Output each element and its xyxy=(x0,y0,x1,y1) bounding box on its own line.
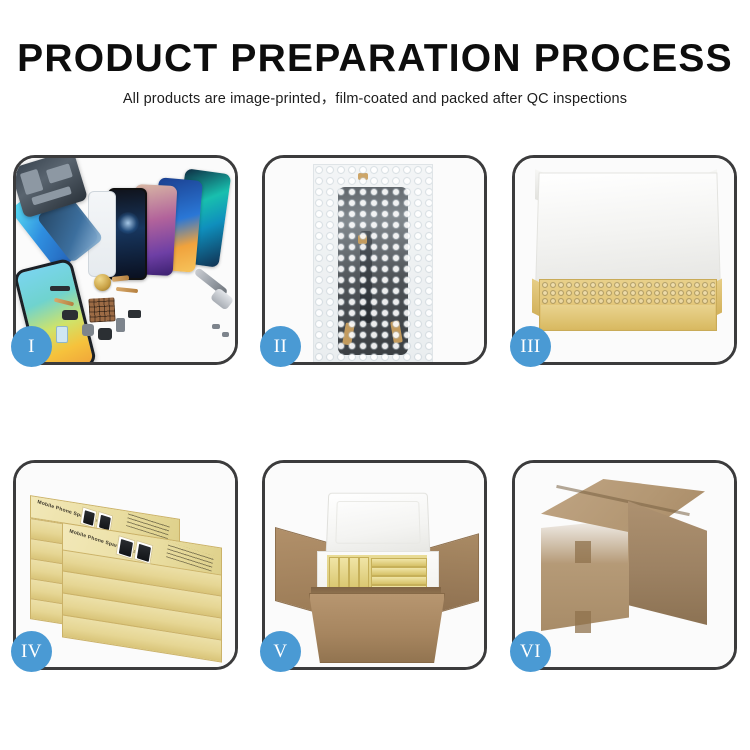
box-front-face xyxy=(541,305,715,329)
step-badge-6: VI xyxy=(510,631,551,672)
battery-label-part xyxy=(56,326,68,343)
antenna-strip-part xyxy=(50,286,70,291)
box-base-kraft xyxy=(539,279,717,331)
step-badge-5: V xyxy=(260,631,301,672)
page-subtitle: All products are image-printed，film-coat… xyxy=(0,89,750,109)
step-badge-4: IV xyxy=(11,631,52,672)
receiver-part xyxy=(98,328,112,340)
step-4-image: Mobile Phone Spare Parts Mobile Phone Sp… xyxy=(16,463,235,667)
box-lid-white xyxy=(535,173,720,282)
step-3-image xyxy=(515,158,734,362)
process-step-panel-5: V xyxy=(262,460,487,670)
bubble-wrap-bag xyxy=(313,164,433,362)
process-step-panel-4: Mobile Phone Spare Parts Mobile Phone Sp… xyxy=(13,460,238,670)
process-step-panel-3: III xyxy=(512,155,737,365)
bubble-texture xyxy=(314,165,432,362)
process-step-grid: I II xyxy=(13,155,737,670)
carton-tape-upper xyxy=(575,541,591,563)
step-6-image xyxy=(515,463,734,667)
step-badge-2: II xyxy=(260,326,301,367)
box-stack: Mobile Phone Spare Parts Mobile Phone Sp… xyxy=(28,485,228,661)
foam-box-lid xyxy=(326,493,431,555)
step-badge-3: III xyxy=(510,326,551,367)
step-1-image xyxy=(16,158,235,362)
step-2-image xyxy=(265,158,484,362)
screw-part-1 xyxy=(212,324,220,329)
header: PRODUCT PREPARATION PROCESS All products… xyxy=(0,36,750,109)
process-step-panel-2: II xyxy=(262,155,487,365)
vibrator-part xyxy=(82,324,94,336)
product-preparation-infographic: PRODUCT PREPARATION PROCESS All products… xyxy=(0,0,750,750)
step-badge-1: I xyxy=(11,326,52,367)
process-step-panel-6: VI xyxy=(512,460,737,670)
carton-tape-lower xyxy=(575,611,591,633)
ic-chip-grid-part xyxy=(88,297,115,322)
screw-part-2 xyxy=(222,332,229,337)
connector-part xyxy=(116,318,125,332)
carton-body-open xyxy=(309,593,445,663)
step-5-image xyxy=(265,463,484,667)
speaker-coil-part xyxy=(94,274,111,291)
bubble-wrapped-contents xyxy=(541,281,715,305)
process-step-panel-1: I xyxy=(13,155,238,365)
camera-module-part xyxy=(62,310,78,320)
page-title: PRODUCT PREPARATION PROCESS xyxy=(0,36,750,82)
sim-tray-part xyxy=(128,310,141,318)
